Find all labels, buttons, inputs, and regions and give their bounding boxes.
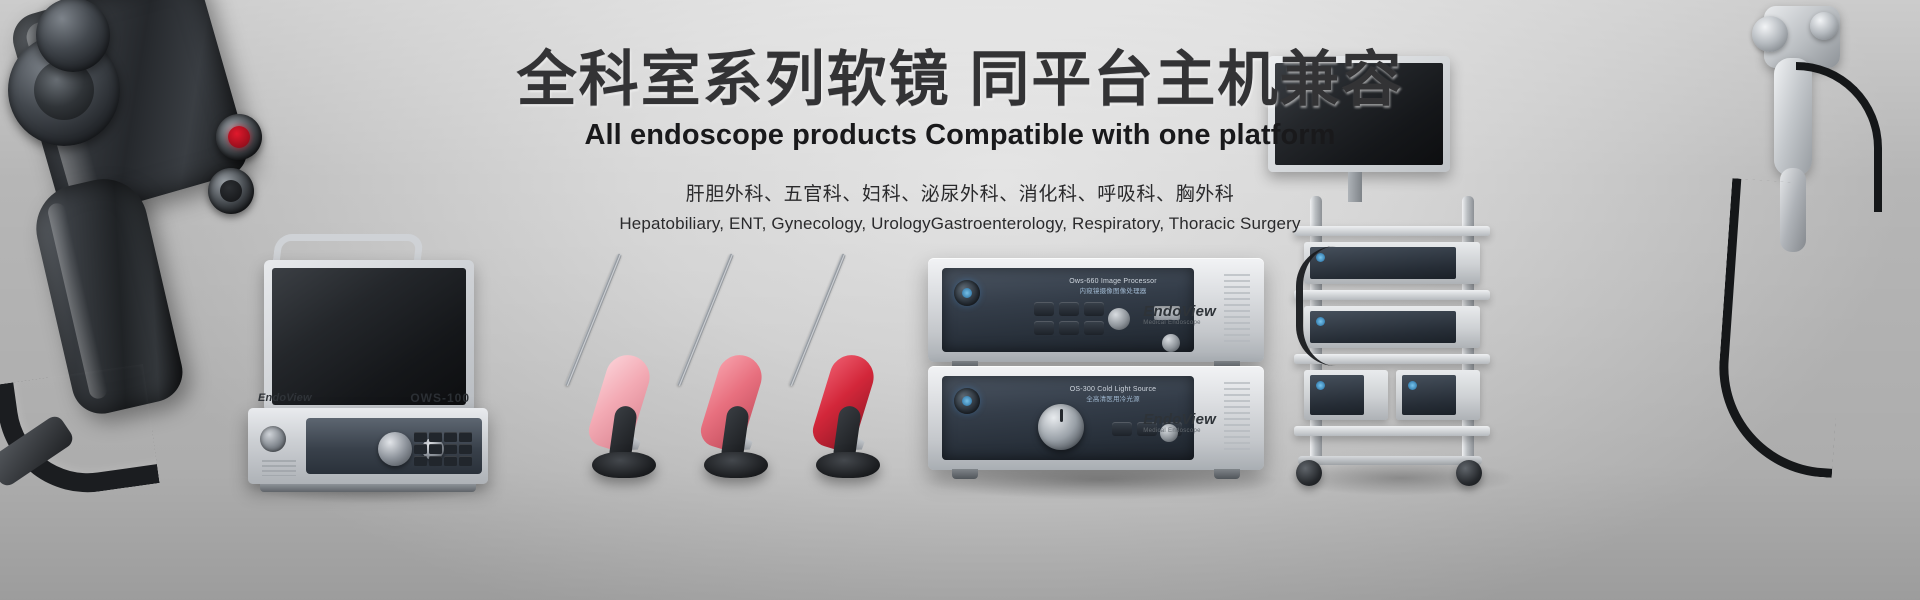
- ows-control-strip: [306, 418, 482, 474]
- processor-mini-dial[interactable]: [1108, 308, 1130, 330]
- departments-chinese: 肝胆外科、五官科、妇科、泌尿外科、消化科、呼吸科、胸外科: [0, 182, 1920, 208]
- page-title: 全科室系列软镜 同平台主机兼容: [0, 46, 1920, 113]
- light-source-vent-grille: [1224, 382, 1250, 454]
- cart-base-plate: [1298, 456, 1482, 465]
- ows-base-panel: EndoView OWS-100: [248, 408, 488, 484]
- ows-base-foot: [260, 484, 476, 492]
- light-source-brand: EndoView Medical Endoscope: [1143, 411, 1216, 434]
- ows-power-dial[interactable]: [260, 426, 286, 452]
- processor-title-cn: 内窥镜摄像图像处理器: [1038, 287, 1188, 296]
- light-source-foot-left: [952, 469, 978, 479]
- cart-shelf-4: [1294, 426, 1490, 436]
- cart-wheel-left: [1296, 460, 1322, 486]
- scope-knob-small: [1810, 12, 1838, 40]
- image-processor-unit: Ows-660 Image Processor 内窥镜摄像图像处理器 EndoV…: [928, 258, 1264, 362]
- ows-keypad[interactable]: [414, 432, 472, 466]
- processor-title-en: Ows-660 Image Processor: [1069, 278, 1156, 285]
- light-source-foot-right: [1214, 469, 1240, 479]
- ows-main-knob[interactable]: [378, 432, 412, 466]
- ows-model-label: OWS-100: [410, 391, 470, 405]
- ows-display: [272, 268, 466, 405]
- forceps-instrument-red: [744, 256, 874, 488]
- cart-device-4: [1396, 370, 1480, 420]
- forceps-base: [816, 452, 880, 478]
- ows-vent-grille: [262, 460, 296, 476]
- processor-aux-dial[interactable]: [1162, 334, 1180, 352]
- processor-brand-name: EndoView: [1143, 303, 1216, 320]
- processor-power-button[interactable]: [954, 280, 980, 306]
- forceps-instrument-rose: [632, 256, 762, 488]
- forceps-instrument-pink: [520, 256, 650, 488]
- banner-text-block: 全科室系列软镜 同平台主机兼容 All endoscope products C…: [0, 46, 1920, 236]
- ows-screen-bezel: [264, 260, 474, 412]
- cart-wheel-right: [1456, 460, 1482, 486]
- light-source-brightness-dial[interactable]: [1038, 404, 1084, 450]
- light-source-brand-sub: Medical Endoscope: [1143, 428, 1216, 434]
- cart-cable-coil: [1296, 246, 1336, 366]
- light-source-unit: OS-300 Cold Light Source 全高清医用冷光源 EndoVi…: [928, 366, 1264, 470]
- light-source-title-en: OS-300 Cold Light Source: [1070, 386, 1157, 393]
- light-source-brand-name: EndoView: [1143, 411, 1216, 428]
- page-subtitle: All endoscope products Compatible with o…: [0, 120, 1920, 152]
- banner-root: 全科室系列软镜 同平台主机兼容 All endoscope products C…: [0, 0, 1920, 600]
- processor-vent-grille: [1224, 274, 1250, 346]
- processor-brand-sub: Medical Endoscope: [1143, 320, 1216, 326]
- light-source-power-button[interactable]: [954, 388, 980, 414]
- ows-brand-label: EndoView: [258, 392, 312, 404]
- ows-monitor-unit: EndoView OWS-100: [238, 246, 496, 496]
- light-source-title: OS-300 Cold Light Source 全高清医用冷光源: [1038, 385, 1188, 405]
- cart-device-3: [1304, 370, 1388, 420]
- processor-brand: EndoView Medical Endoscope: [1143, 303, 1216, 326]
- departments-english: Hepatobiliary, ENT, Gynecology, UrologyG…: [0, 213, 1920, 236]
- processor-button-pad[interactable]: [1034, 302, 1104, 335]
- processor-title: Ows-660 Image Processor 内窥镜摄像图像处理器: [1038, 277, 1188, 297]
